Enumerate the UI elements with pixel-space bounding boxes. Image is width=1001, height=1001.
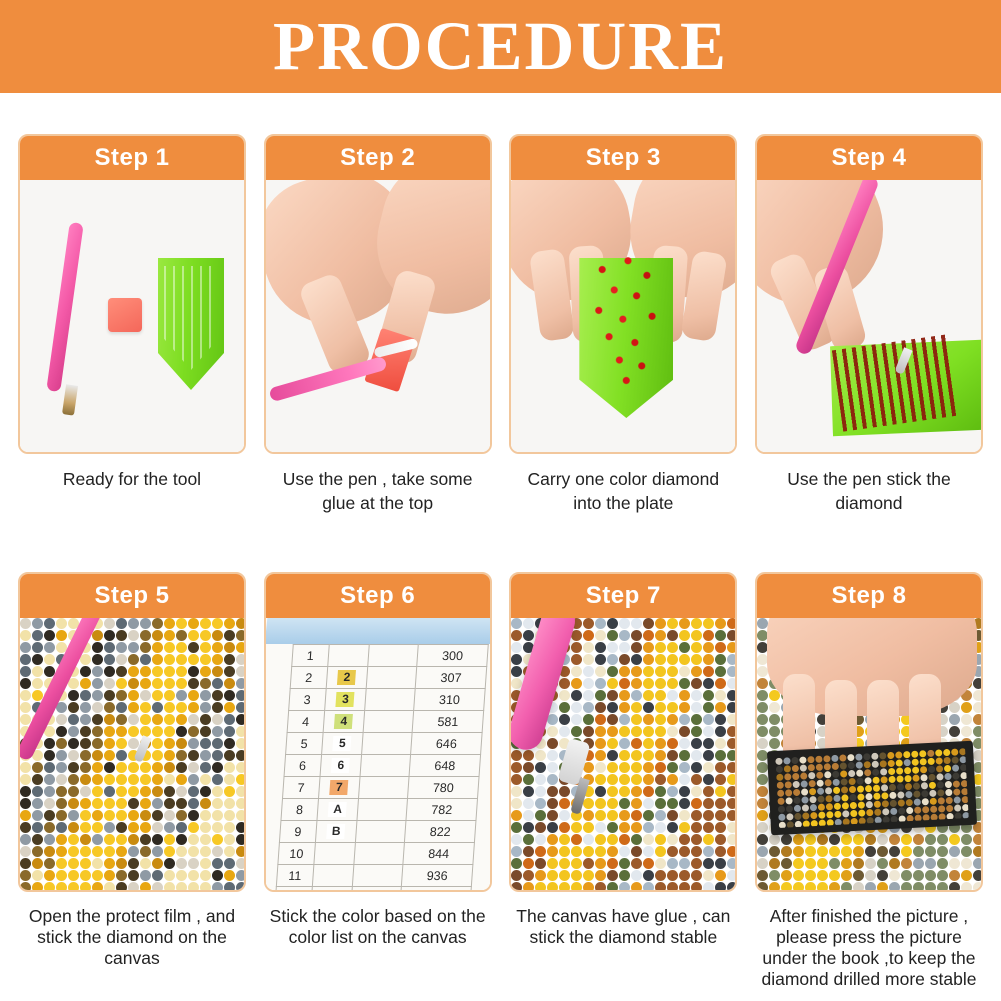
step-card-7: Step 7 The canvas have glue , can stick … bbox=[509, 572, 737, 990]
color-chart-row: 11936 bbox=[276, 865, 473, 887]
chart-row-number: 5 bbox=[285, 733, 322, 755]
step-2-scene bbox=[266, 180, 490, 452]
chart-row-symbol: 6 bbox=[319, 755, 361, 777]
chart-row-number: 10 bbox=[278, 843, 315, 865]
step-1-image bbox=[20, 180, 244, 452]
color-chart-row: 22307 bbox=[290, 667, 487, 689]
step-6-card: Step 6 130022307333104458155646666487778… bbox=[264, 572, 492, 892]
chart-row-number: 3 bbox=[288, 689, 325, 711]
step-6-scene: 13002230733310445815564666648777808A7829… bbox=[266, 618, 490, 890]
framed-mosaic bbox=[775, 748, 968, 828]
chart-row-swatch bbox=[352, 865, 402, 887]
step-8-caption: After finished the picture , please pres… bbox=[755, 906, 983, 990]
color-chart-paper: 13002230733310445815564666648777808A7829… bbox=[266, 618, 490, 890]
chart-row-code: 300 bbox=[417, 645, 488, 667]
color-chart-row: 9B822 bbox=[279, 821, 476, 843]
color-chart-row: 44581 bbox=[287, 711, 484, 733]
step-3-header: Step 3 bbox=[511, 136, 735, 180]
page-title: PROCEDURE bbox=[273, 12, 728, 81]
chart-row-swatch bbox=[351, 887, 401, 891]
chart-row-number: 1 bbox=[291, 645, 328, 667]
chart-row-swatch bbox=[363, 711, 413, 733]
step-8-header: Step 8 bbox=[757, 574, 981, 618]
chart-row-symbol bbox=[310, 887, 352, 891]
step-2-card: Step 2 bbox=[264, 134, 492, 454]
step-5-header: Step 5 bbox=[20, 574, 244, 618]
step-card-5: Step 5 Open the protect film , and stick… bbox=[18, 572, 246, 990]
step-card-4: Step 4 Use the pen stick the diamond bbox=[755, 134, 983, 515]
chart-row-symbol bbox=[312, 865, 354, 887]
pen-tip-icon bbox=[62, 384, 78, 415]
chart-row-number: 2 bbox=[290, 667, 327, 689]
step-3-caption: Carry one color diamond into the plate bbox=[509, 468, 737, 515]
step-2-header: Step 2 bbox=[266, 136, 490, 180]
step-4-card: Step 4 bbox=[755, 134, 983, 454]
chart-row-code: 782 bbox=[406, 799, 477, 821]
step-3-image bbox=[511, 180, 735, 452]
step-2-caption: Use the pen , take some glue at the top bbox=[264, 468, 492, 515]
step-1-caption: Ready for the tool bbox=[18, 468, 246, 492]
chart-row-code: 844 bbox=[403, 843, 474, 865]
chart-row-swatch bbox=[362, 733, 412, 755]
chart-row-code: 936 bbox=[401, 865, 472, 887]
step-card-1: Step 1 Ready for the tool bbox=[18, 134, 246, 515]
chart-row-symbol bbox=[327, 645, 369, 667]
step-6-caption: Stick the color based on the color list … bbox=[264, 906, 492, 948]
color-chart-row: 66648 bbox=[284, 755, 481, 777]
chart-row-code: 648 bbox=[409, 755, 480, 777]
chart-row-swatch bbox=[365, 689, 415, 711]
chart-row-swatch bbox=[354, 843, 404, 865]
sunflower-canvas-mosaic bbox=[20, 618, 244, 890]
step-2-image bbox=[266, 180, 490, 452]
step-1-header: Step 1 bbox=[20, 136, 244, 180]
color-chart-row: 55646 bbox=[285, 733, 482, 755]
step-7-scene bbox=[511, 618, 735, 890]
step-8-image bbox=[757, 618, 981, 890]
page-banner: PROCEDURE bbox=[0, 0, 1001, 93]
step-card-3: Step 3 Carry one color diamond into the … bbox=[509, 134, 737, 515]
chart-row-swatch bbox=[359, 777, 409, 799]
step-1-card: Step 1 bbox=[18, 134, 246, 454]
step-4-header: Step 4 bbox=[757, 136, 981, 180]
chart-row-swatch bbox=[360, 755, 410, 777]
color-chart-row: 12938 bbox=[274, 887, 471, 891]
color-chart-row: 10844 bbox=[278, 843, 475, 865]
chart-row-code: 822 bbox=[404, 821, 475, 843]
step-4-caption: Use the pen stick the diamond bbox=[755, 468, 983, 515]
color-chart-row: 1300 bbox=[291, 645, 488, 667]
step-4-image bbox=[757, 180, 981, 452]
chart-row-code: 581 bbox=[412, 711, 483, 733]
chart-row-number: 7 bbox=[282, 777, 319, 799]
step-6-image: 13002230733310445815564666648777808A7829… bbox=[266, 618, 490, 890]
diamond-rows-icon bbox=[832, 334, 958, 431]
chart-top-band bbox=[266, 618, 490, 644]
step-8-card: Step 8 bbox=[755, 572, 983, 892]
color-chart-row: 8A782 bbox=[281, 799, 478, 821]
chart-row-code: 938 bbox=[400, 887, 471, 891]
chart-row-symbol: 5 bbox=[321, 733, 363, 755]
step-4-scene bbox=[757, 180, 981, 452]
chart-row-code: 310 bbox=[413, 689, 484, 711]
steps-row-1: Step 1 Ready for the tool Step 2 bbox=[0, 134, 1001, 515]
chart-row-swatch bbox=[357, 799, 407, 821]
chart-row-code: 307 bbox=[415, 667, 486, 689]
step-3-card: Step 3 bbox=[509, 134, 737, 454]
step-7-caption: The canvas have glue , can stick the dia… bbox=[509, 906, 737, 948]
chart-row-code: 646 bbox=[410, 733, 481, 755]
chart-row-symbol: 2 bbox=[325, 667, 367, 689]
step-7-header: Step 7 bbox=[511, 574, 735, 618]
step-card-2: Step 2 Use the pen , take some glue at t… bbox=[264, 134, 492, 515]
chart-row-number: 6 bbox=[284, 755, 321, 777]
step-5-image bbox=[20, 618, 244, 890]
chart-row-number: 9 bbox=[279, 821, 316, 843]
chart-row-number: 4 bbox=[287, 711, 324, 733]
chart-row-number: 8 bbox=[281, 799, 318, 821]
step-card-6: Step 6 130022307333104458155646666487778… bbox=[264, 572, 492, 990]
chart-row-symbol: 3 bbox=[324, 689, 366, 711]
chart-row-swatch bbox=[368, 645, 418, 667]
steps-row-2: Step 5 Open the protect film , and stick… bbox=[0, 572, 1001, 990]
color-chart-row: 33310 bbox=[288, 689, 485, 711]
red-diamonds-icon bbox=[585, 252, 671, 398]
color-chart-table: 13002230733310445815564666648777808A7829… bbox=[271, 644, 489, 890]
procedure-infographic: PROCEDURE Step 1 Ready for the tool bbox=[0, 0, 1001, 1001]
step-7-image bbox=[511, 618, 735, 890]
chart-row-symbol: B bbox=[315, 821, 357, 843]
chart-row-swatch bbox=[366, 667, 416, 689]
step-5-scene bbox=[20, 618, 244, 890]
chart-row-number: 12 bbox=[274, 887, 311, 891]
chart-row-symbol: 4 bbox=[322, 711, 364, 733]
step-5-caption: Open the protect film , and stick the di… bbox=[18, 906, 246, 969]
chart-row-code: 780 bbox=[407, 777, 478, 799]
chart-row-swatch bbox=[355, 821, 405, 843]
chart-row-symbol bbox=[313, 843, 355, 865]
chart-row-symbol: 7 bbox=[318, 777, 360, 799]
glue-square-icon bbox=[108, 298, 142, 332]
step-5-card: Step 5 bbox=[18, 572, 246, 892]
step-7-card: Step 7 bbox=[509, 572, 737, 892]
step-1-scene bbox=[20, 180, 244, 452]
chart-row-number: 11 bbox=[276, 865, 313, 887]
chart-row-symbol: A bbox=[316, 799, 358, 821]
book-pressing-board bbox=[767, 741, 977, 836]
color-chart-row: 77780 bbox=[282, 777, 479, 799]
step-card-8: Step 8 After finished the pi bbox=[755, 572, 983, 990]
step-3-scene bbox=[511, 180, 735, 452]
pen-icon bbox=[46, 222, 84, 392]
step-6-header: Step 6 bbox=[266, 574, 490, 618]
step-8-scene bbox=[757, 618, 981, 890]
